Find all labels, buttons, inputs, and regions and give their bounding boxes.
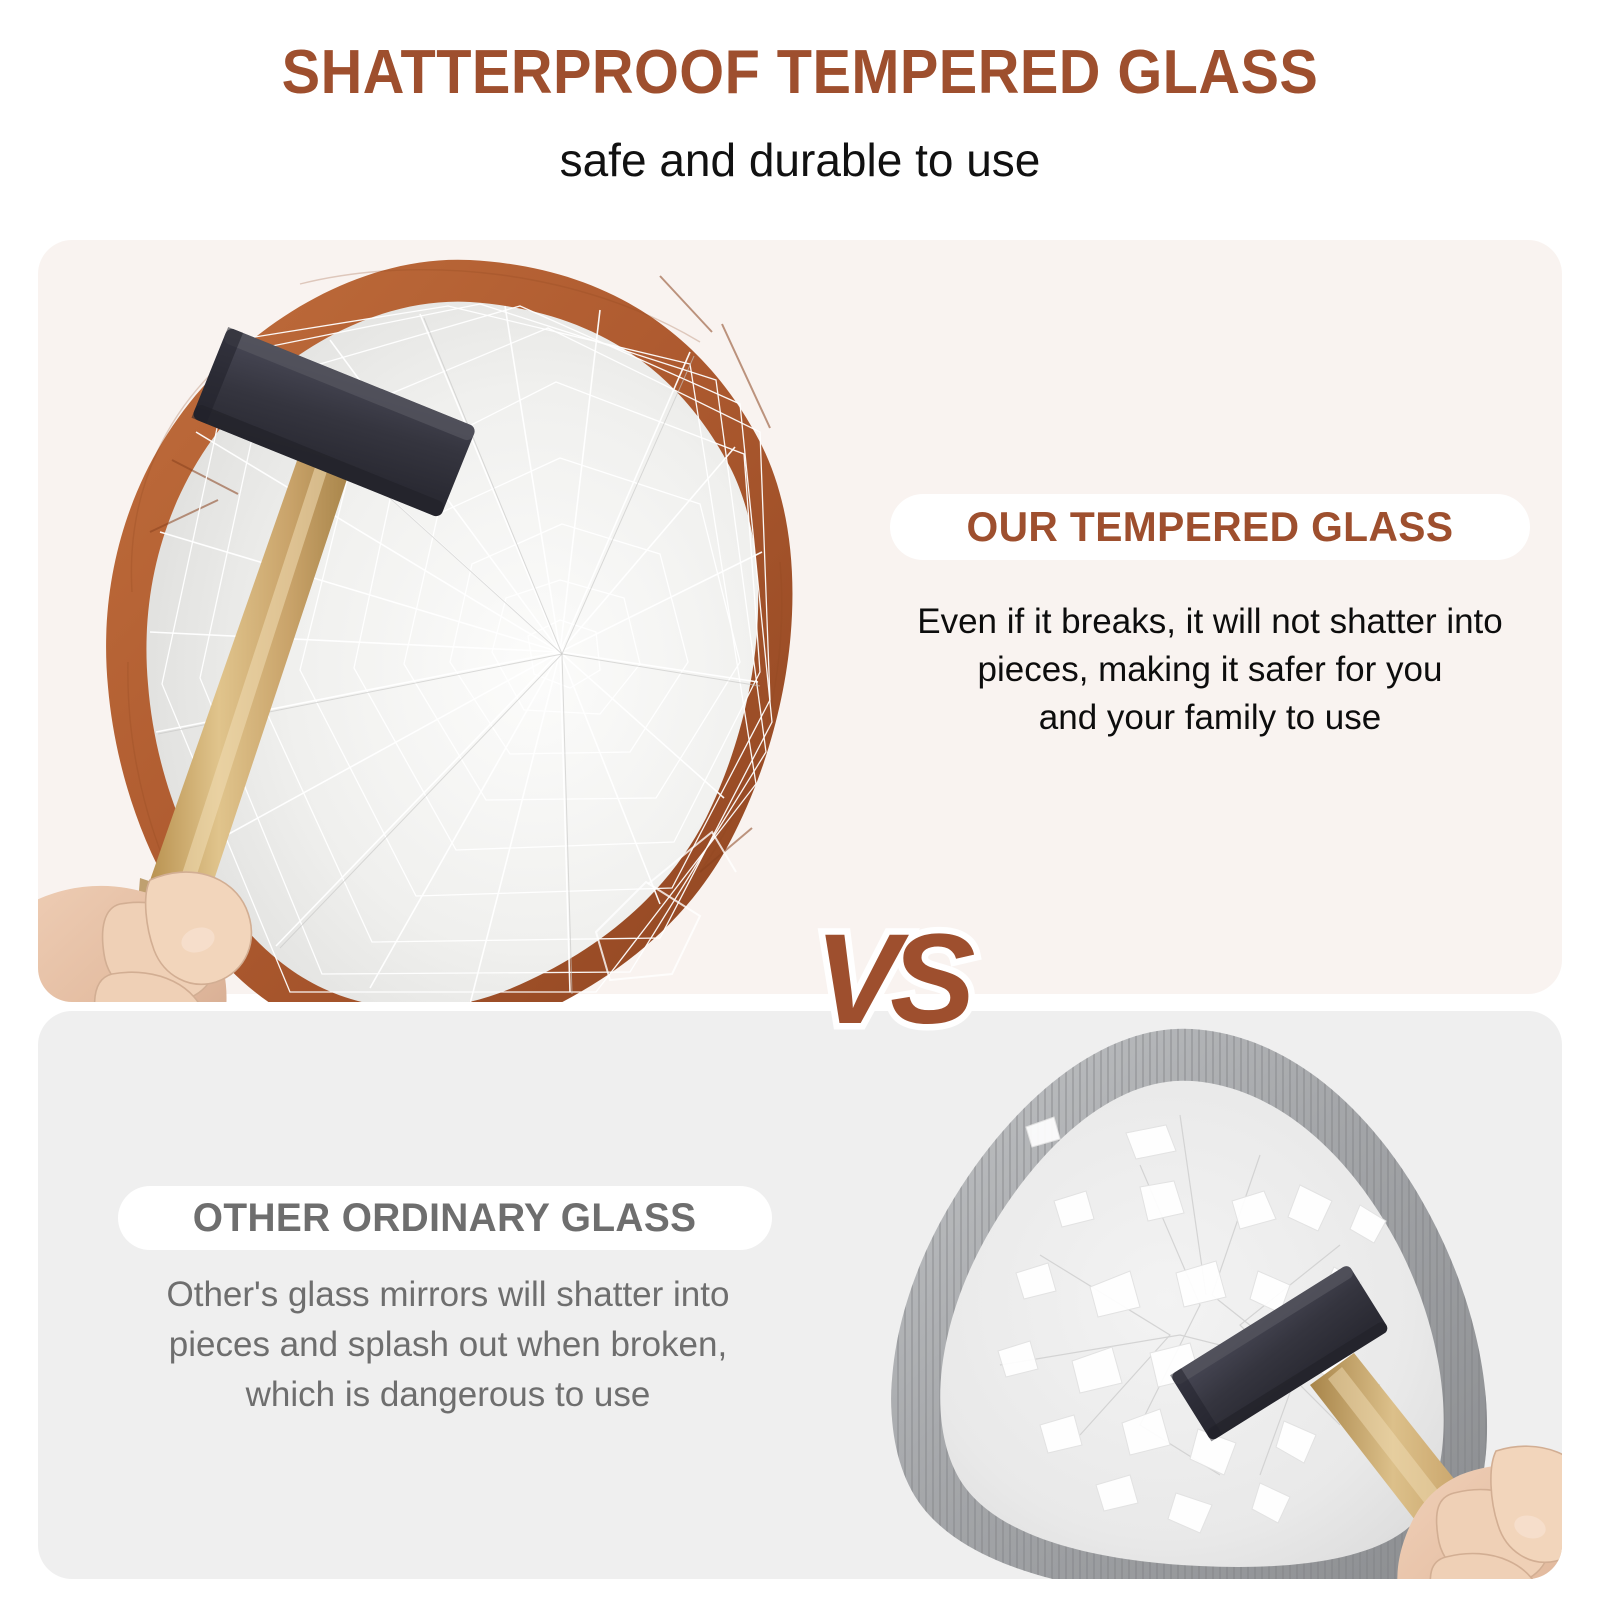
ordinary-glass-badge: OTHER ORDINARY GLASS bbox=[118, 1186, 772, 1250]
ordinary-glass-description: Other's glass mirrors will shatter into … bbox=[112, 1270, 784, 1420]
infographic-page: SHATTERPROOF TEMPERED GLASS safe and dur… bbox=[0, 0, 1600, 1600]
tempered-glass-badge: OUR TEMPERED GLASS bbox=[890, 494, 1530, 560]
ordinary-glass-badge-label: OTHER ORDINARY GLASS bbox=[193, 1196, 697, 1241]
tempered-glass-badge-label: OUR TEMPERED GLASS bbox=[967, 503, 1454, 551]
page-subtitle: safe and durable to use bbox=[0, 134, 1600, 186]
page-title: SHATTERPROOF TEMPERED GLASS bbox=[56, 42, 1544, 104]
versus-badge: VS bbox=[795, 905, 985, 1055]
tempered-glass-description: Even if it breaks, it will not shatter i… bbox=[872, 598, 1548, 742]
versus-label: VS bbox=[815, 915, 966, 1045]
